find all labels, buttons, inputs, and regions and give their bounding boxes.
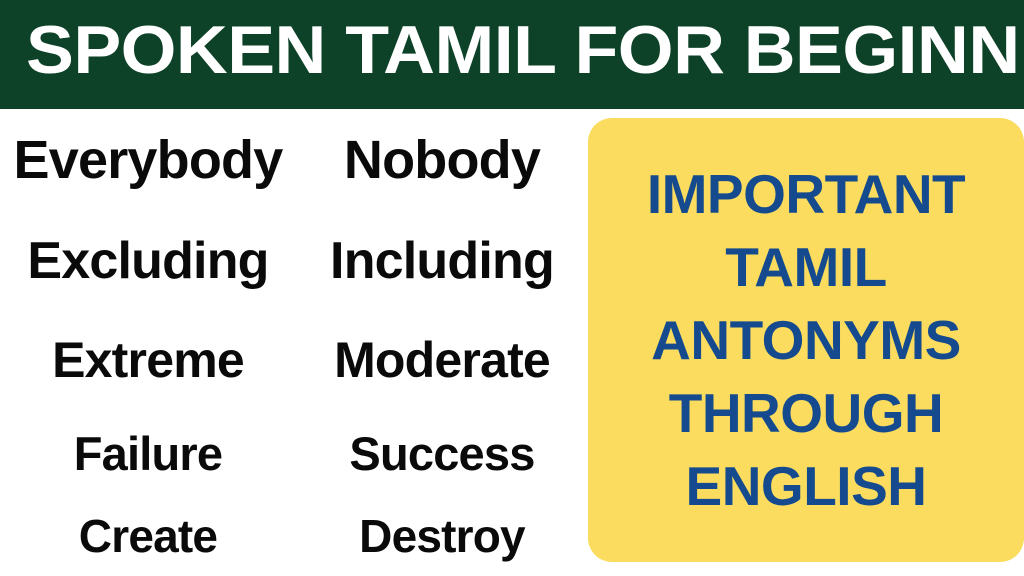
word-term: Failure (0, 424, 296, 484)
promo-line: ENGLISH (588, 450, 1024, 523)
word-antonym: Including (296, 229, 588, 293)
antonym-word-list: Everybody Nobody Excluding Including Ext… (0, 109, 588, 576)
word-antonym: Moderate (296, 329, 588, 391)
promo-line: ANTONYMS (588, 304, 1024, 377)
table-row: Extreme Moderate (0, 329, 588, 391)
word-antonym: Nobody (296, 127, 588, 193)
page-title: SPOKEN TAMIL FOR BEGINNERS (26, 10, 1024, 90)
table-row: Everybody Nobody (0, 127, 588, 193)
table-row: Create Destroy (0, 507, 588, 565)
promo-panel: IMPORTANT TAMIL ANTONYMS THROUGH ENGLISH (588, 118, 1024, 562)
table-row: Excluding Including (0, 229, 588, 293)
word-term: Extreme (0, 329, 296, 391)
poster-root: SPOKEN TAMIL FOR BEGINNERS Everybody Nob… (0, 0, 1024, 576)
header-banner: SPOKEN TAMIL FOR BEGINNERS (0, 0, 1024, 109)
word-term: Create (0, 507, 296, 565)
word-term: Everybody (0, 127, 296, 193)
promo-line: THROUGH (588, 377, 1024, 450)
promo-line: IMPORTANT (588, 158, 1024, 231)
word-antonym: Success (296, 424, 588, 484)
word-term: Excluding (0, 229, 296, 293)
table-row: Failure Success (0, 424, 588, 484)
word-antonym: Destroy (296, 507, 588, 565)
promo-text-block: IMPORTANT TAMIL ANTONYMS THROUGH ENGLISH (588, 158, 1024, 523)
promo-line: TAMIL (588, 231, 1024, 304)
